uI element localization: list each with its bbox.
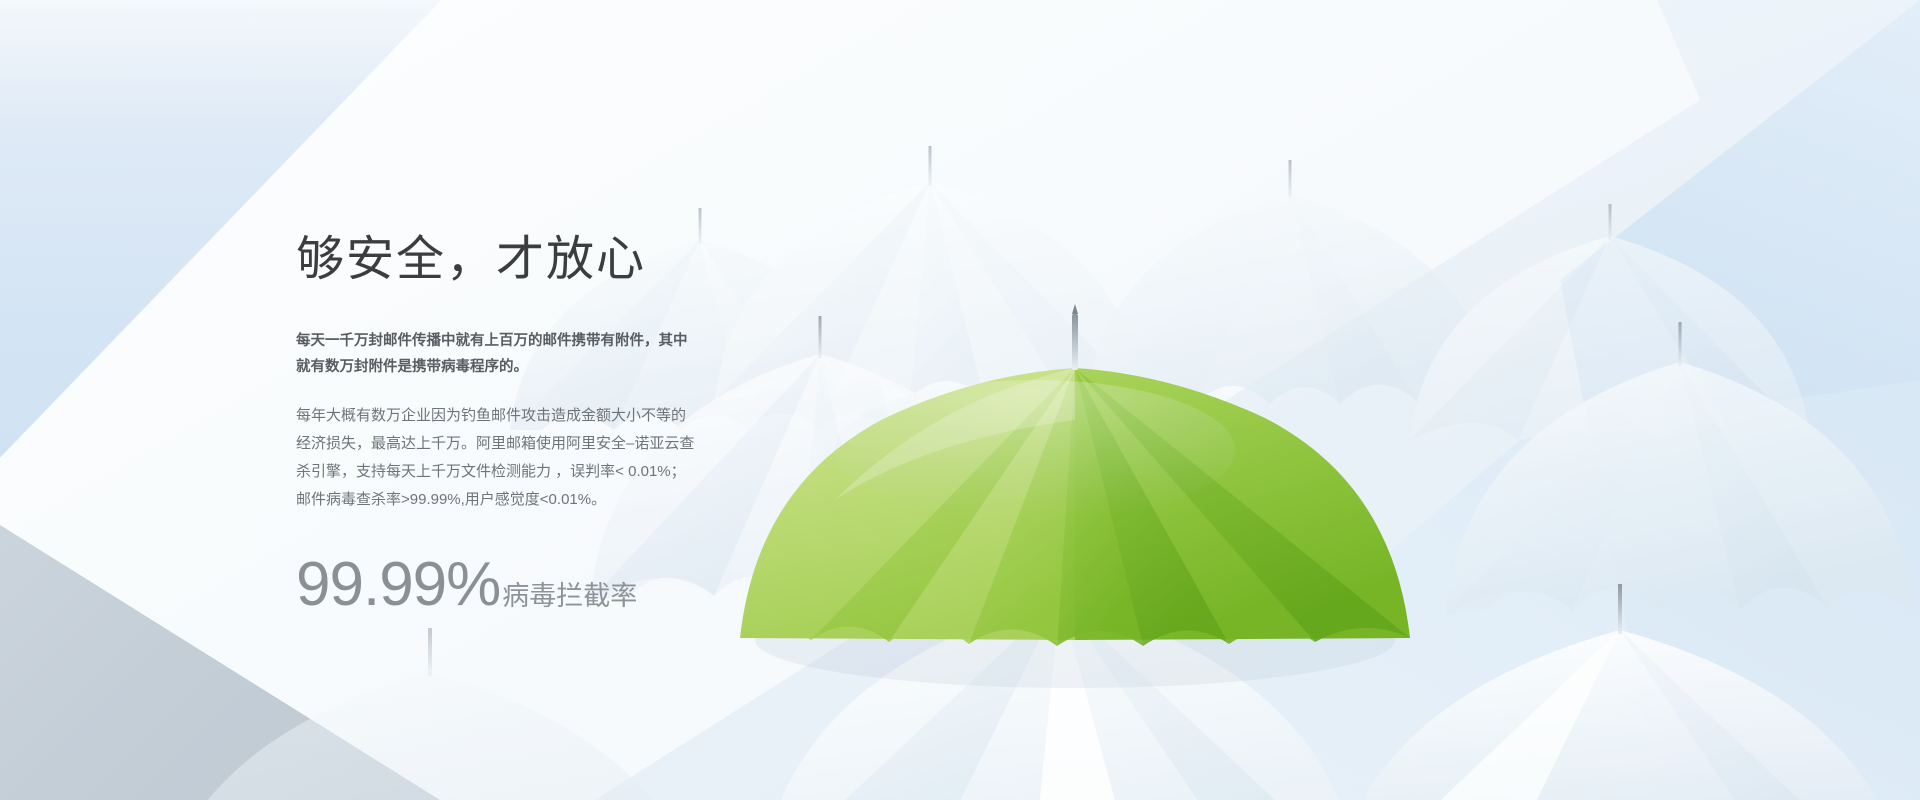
- stat-label: 病毒拦截率: [502, 583, 637, 610]
- security-banner: 够安全，才放心 每天一千万封邮件传播中就有上百万的邮件携带有附件，其中就有数万封…: [0, 0, 1920, 800]
- body-paragraph: 每年大概有数万企业因为钓鱼邮件攻击造成金额大小不等的经济损失，最高达上千万。阿里…: [296, 402, 696, 514]
- page-title: 够安全，才放心: [296, 236, 726, 284]
- stat-number: 99.99%: [296, 554, 500, 616]
- lead-paragraph: 每天一千万封邮件传播中就有上百万的邮件携带有附件，其中就有数万封附件是携带病毒程…: [296, 328, 696, 380]
- banner-content: 够安全，才放心 每天一千万封邮件传播中就有上百万的邮件携带有附件，其中就有数万封…: [296, 236, 726, 616]
- virus-interception-stat: 99.99% 病毒拦截率: [296, 554, 726, 616]
- white-umbrella-field-icon: [0, 0, 1920, 800]
